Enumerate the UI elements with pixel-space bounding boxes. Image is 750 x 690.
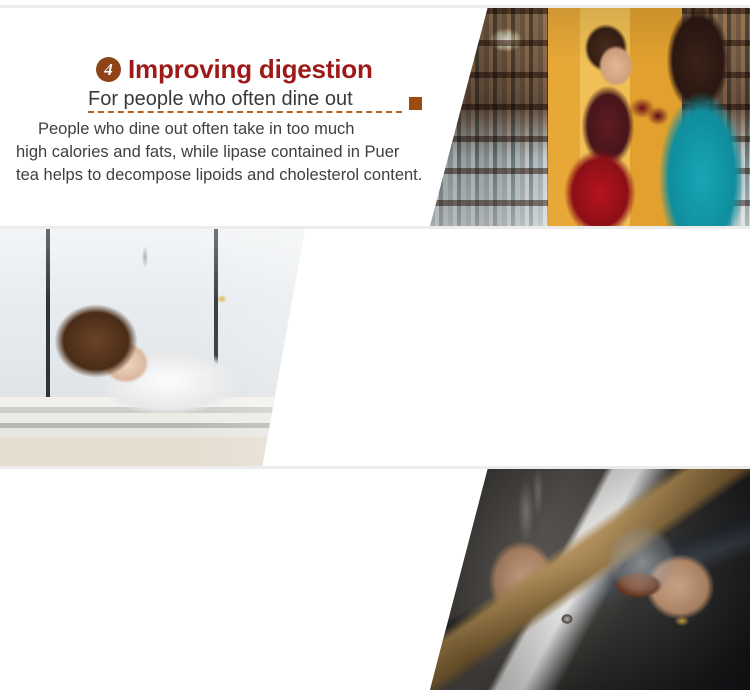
section-number-badge-4: 4 [96,57,121,82]
tired-office-worker-photo-image [0,229,305,466]
section-4-body-text-1: People who dine out often take in too mu… [38,120,354,138]
cigar-and-whisky-photo [430,469,750,690]
section-4-heading: Improving digestion [128,54,373,84]
section-4-body-line-3: tea helps to decompose lipoids and chole… [16,164,440,187]
section-4-body-line-2: high calories and fats, while lipase con… [16,141,440,164]
section-4-heading-row: 4 Improving digestion [0,54,440,84]
section-panel-6: 6 Sobering up For smokers, drinkers Tea … [0,469,750,690]
bar-toast-photo [430,8,750,226]
section-panel-5: 5 Good for stomach For people who withou… [0,229,750,466]
section-4-body-line-1: People who dine out often take in too mu… [16,118,440,141]
tired-office-worker-photo [0,229,305,466]
section-4-text-block: 4 Improving digestion For people who oft… [0,54,440,187]
section-4-square-marker [409,97,422,110]
section-4-dashed-rule [88,111,402,113]
bar-toast-photo-image [430,8,750,226]
section-4-body: People who dine out often take in too mu… [0,118,440,187]
cigar-and-whisky-photo-image [430,469,750,690]
section-4-subtitle: For people who often dine out [88,86,353,112]
section-4-subtitle-row: For people who often dine out [0,86,440,112]
infographic-page: 4 Improving digestion For people who oft… [0,0,750,690]
section-panel-4: 4 Improving digestion For people who oft… [0,8,750,226]
